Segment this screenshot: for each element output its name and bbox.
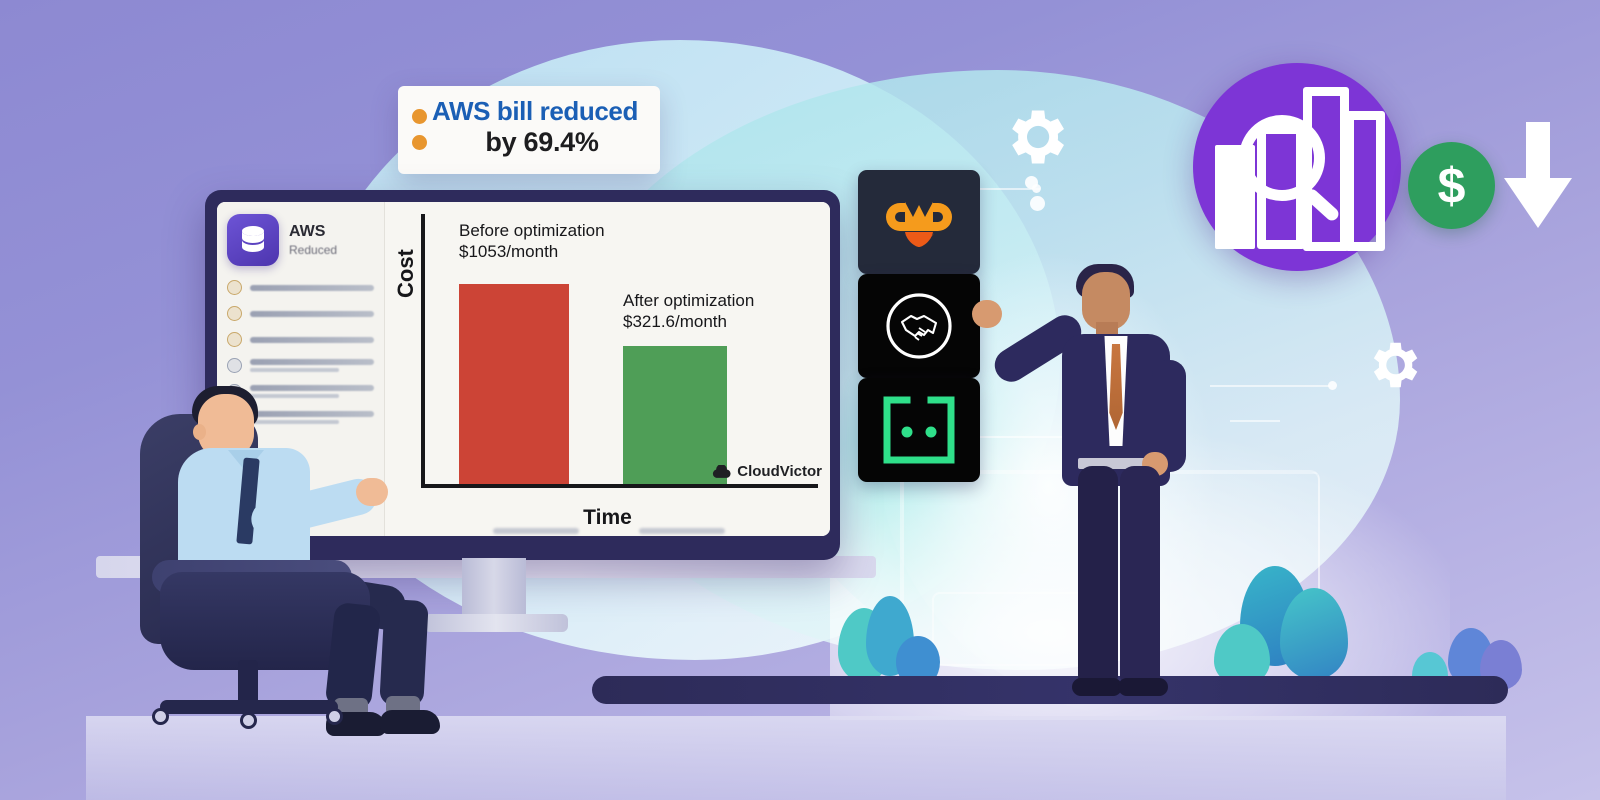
bar-after-label: After optimization $321.6/month	[623, 290, 754, 332]
handshake-badge[interactable]	[858, 274, 980, 378]
sidebar-item-label	[250, 385, 374, 398]
chair-caster	[326, 708, 343, 725]
callout-headline: AWS bill reduced	[432, 96, 646, 126]
dollar-symbol: $	[1438, 157, 1466, 215]
standing-raised-hand	[972, 300, 1002, 328]
seated-shoe	[380, 710, 440, 734]
chart-plot-area: Before optimization $1053/month After op…	[421, 214, 818, 488]
chart-x-axis-label: Time	[385, 506, 830, 530]
chair-caster	[240, 712, 257, 729]
cloudvictor-watermark: CloudVictor	[711, 463, 822, 480]
sidebar-item-label	[250, 359, 374, 372]
callout-card: AWS bill reduced by 69.4%	[398, 86, 660, 174]
sidebar-item-label	[250, 411, 374, 424]
gold-circle-icon	[227, 306, 242, 321]
gold-circle-icon	[227, 332, 242, 347]
cost-comparison-chart: Cost Before optimization $1053/month Aft…	[385, 202, 830, 536]
sidebar-header: AWS Reduced	[227, 214, 374, 266]
gear-icon	[998, 100, 1072, 186]
seated-hand	[356, 478, 388, 506]
monitor-stand-base	[424, 614, 568, 632]
standing-leg	[1120, 466, 1160, 684]
bracket-face-badge[interactable]	[858, 378, 980, 482]
floor-shadow	[86, 716, 1506, 800]
sidebar-item[interactable]	[227, 332, 374, 347]
floor-platform	[592, 676, 1508, 704]
sidebar-item[interactable]	[227, 306, 374, 321]
standing-shoe	[1118, 678, 1168, 696]
bullet-dot-icon	[412, 135, 427, 150]
callout-subline: by 69.4%	[432, 126, 646, 158]
crown-cloud-badge[interactable]	[858, 170, 980, 274]
chair-caster	[152, 708, 169, 725]
magnifier-icon	[1239, 115, 1351, 227]
bar-before-optimization	[459, 284, 569, 484]
sidebar-item[interactable]	[227, 358, 374, 373]
gold-circle-icon	[227, 280, 242, 295]
down-arrow-icon	[1500, 122, 1576, 228]
sidebar-item-label	[250, 285, 374, 291]
sidebar-item-label	[250, 337, 374, 343]
seated-ear	[193, 424, 206, 440]
dollar-badge: $	[1408, 142, 1495, 229]
watermark-label: CloudVictor	[737, 463, 822, 480]
cloud-icon	[711, 465, 731, 479]
standing-leg	[1078, 466, 1118, 684]
bullet-dot-icon	[412, 109, 427, 124]
sidebar-app-title: AWS	[289, 222, 337, 242]
monitor-stand-neck	[462, 558, 526, 620]
background-wire	[1210, 385, 1330, 387]
gear-accent-dot	[1025, 176, 1038, 189]
cost-analysis-badge	[1193, 63, 1401, 271]
bar-before-label: Before optimization $1053/month	[459, 220, 605, 262]
sidebar-item-label	[250, 311, 374, 317]
sidebar-item[interactable]	[227, 280, 374, 295]
grey-circle-icon	[227, 358, 242, 373]
gear-icon	[1362, 334, 1424, 407]
seated-shin	[325, 602, 382, 710]
sidebar-app-subtitle: Reduced	[289, 242, 337, 258]
chart-y-axis-label: Cost	[393, 249, 419, 298]
illustration-scene: $ AWS bill reduced by 69.4%	[0, 0, 1600, 800]
screen-footer	[397, 528, 820, 534]
gear-accent-dot	[1030, 196, 1045, 211]
background-node	[1328, 381, 1337, 390]
standing-shoe	[1072, 678, 1122, 696]
background-wire	[1230, 420, 1280, 422]
seated-shin	[379, 599, 428, 707]
database-stack-icon	[227, 214, 279, 266]
